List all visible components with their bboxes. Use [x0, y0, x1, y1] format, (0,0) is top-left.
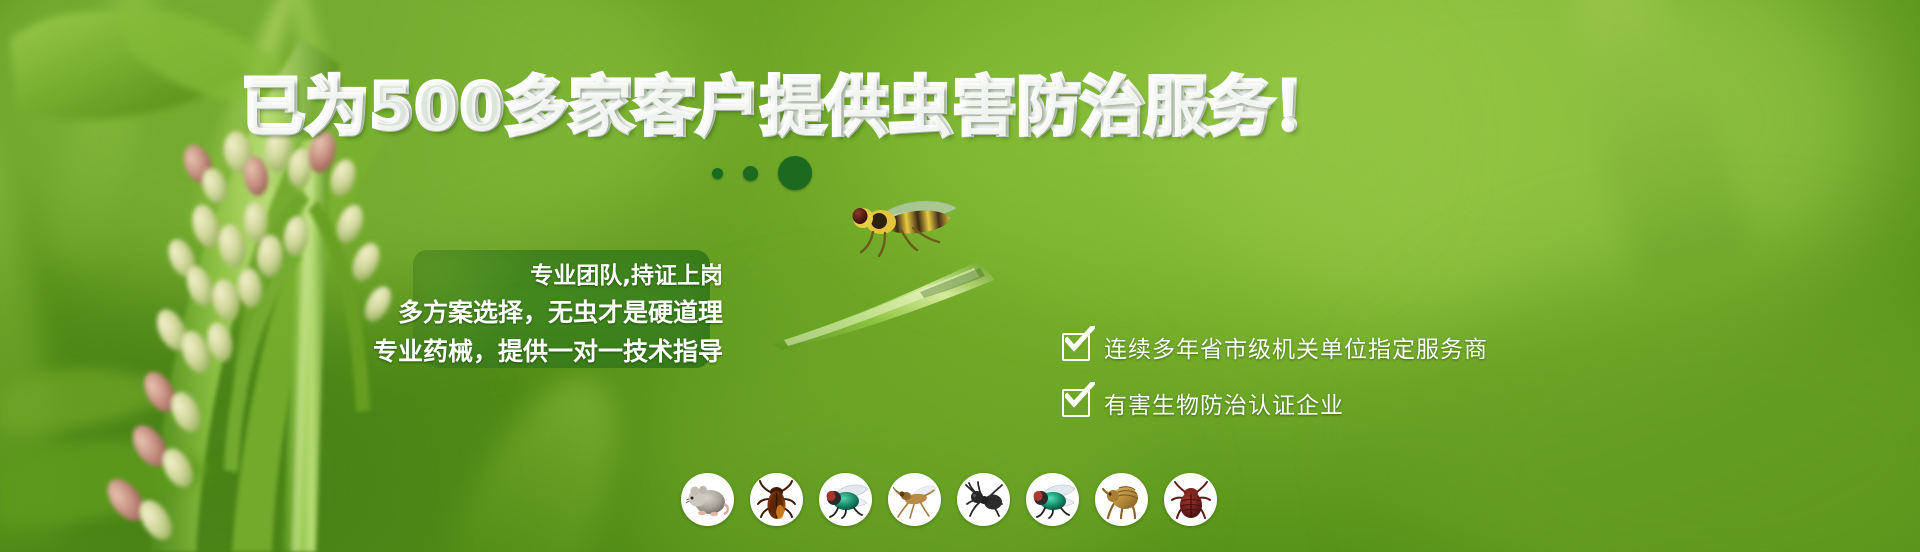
- selling-point-3: 专业药械，提供一对一技术指导: [373, 332, 723, 368]
- pest-bedbug-icon[interactable]: [1164, 473, 1217, 526]
- checklist-item-label: 连续多年省市级机关单位指定服务商: [1104, 330, 1488, 364]
- pest-blowfly-icon[interactable]: [819, 473, 872, 526]
- hoverfly-icon: [845, 196, 965, 266]
- selling-point-2: 多方案选择，无虫才是硬道理: [398, 293, 723, 329]
- pest-mosquito-icon[interactable]: [888, 473, 941, 526]
- dot-small-icon: [712, 168, 723, 179]
- pest-greenbottle-fly-icon[interactable]: [1026, 473, 1079, 526]
- dot-medium-icon: [743, 166, 758, 181]
- pest-rodent-icon[interactable]: [681, 473, 734, 526]
- checklist-item: 连续多年省市级机关单位指定服务商: [1062, 330, 1488, 364]
- checkbox-checked-icon: [1062, 333, 1090, 361]
- checklist-item: 有害生物防治认证企业: [1062, 386, 1488, 420]
- pest-cockroach-icon[interactable]: [750, 473, 803, 526]
- selling-point-1: 专业团队,持证上岗: [530, 256, 723, 290]
- pest-flea-icon[interactable]: [1095, 473, 1148, 526]
- promo-banner: 已为500多家客户提供虫害防治服务！ 专业团队,持证上岗 多方案选择，无虫才是硬…: [0, 0, 1920, 552]
- checklist-item-label: 有害生物防治认证企业: [1104, 386, 1344, 420]
- pest-types-row: [681, 473, 1217, 526]
- pest-ant-icon[interactable]: [957, 473, 1010, 526]
- checkbox-checked-icon: [1062, 389, 1090, 417]
- decorative-dots: [712, 156, 812, 190]
- selling-points-list: 专业团队,持证上岗 多方案选择，无虫才是硬道理 专业药械，提供一对一技术指导: [330, 256, 735, 368]
- dot-large-icon: [778, 156, 812, 190]
- credentials-checklist: 连续多年省市级机关单位指定服务商 有害生物防治认证企业: [1062, 330, 1488, 420]
